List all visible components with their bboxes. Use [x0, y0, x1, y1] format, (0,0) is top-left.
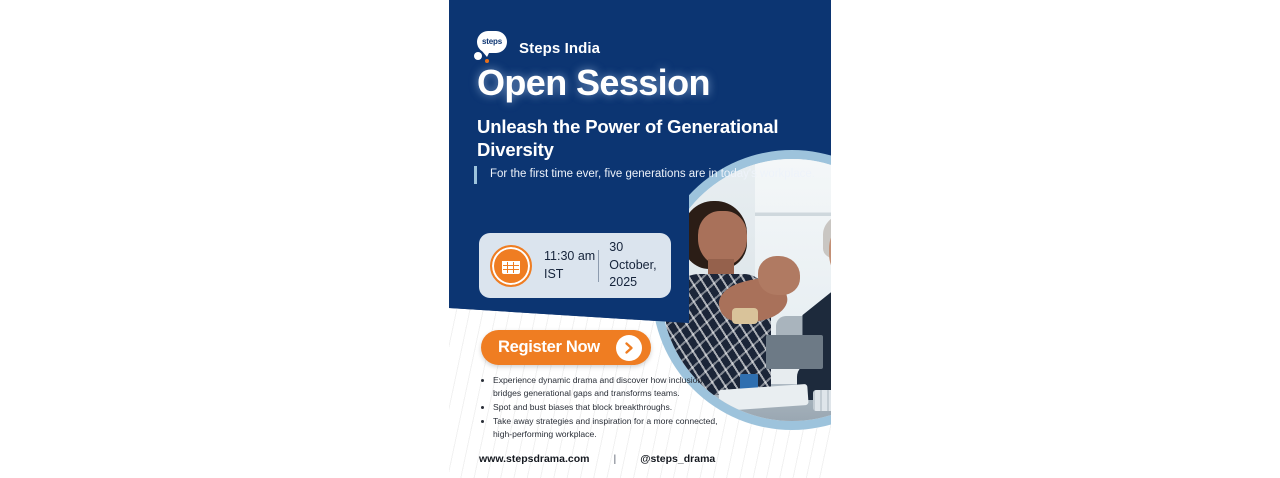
poster: steps Steps India Open Session Unleash t…: [449, 0, 831, 478]
list-item: Experience dynamic drama and discover ho…: [493, 374, 723, 400]
event-info-card: 11:30 am IST 30 October, 2025: [479, 233, 671, 298]
woman-watch: [732, 308, 758, 324]
event-date: 30 October, 2025: [609, 239, 671, 292]
logo-dot-white: [474, 52, 482, 60]
register-now-label: Register Now: [498, 338, 616, 357]
screenshot-canvas: steps Steps India Open Session Unleash t…: [0, 0, 1280, 478]
speech-bubble-icon: steps: [474, 31, 508, 65]
quote-text: For the first time ever, five generation…: [474, 166, 815, 184]
page-title: Open Session: [477, 64, 710, 102]
arrow-right-circle-icon: [616, 335, 642, 361]
event-time: 11:30 am IST: [544, 248, 596, 284]
laptop: [766, 335, 824, 369]
footer-separator: |: [613, 453, 616, 465]
register-now-button[interactable]: Register Now: [481, 330, 651, 365]
website-link[interactable]: www.stepsdrama.com: [479, 453, 589, 465]
footer: www.stepsdrama.com | @steps_drama: [479, 453, 715, 465]
brand-name: Steps India: [519, 40, 600, 57]
list-item: Take away strategies and inspiration for…: [493, 415, 723, 441]
list-item: Spot and bust biases that block breakthr…: [493, 401, 723, 414]
brand-logo[interactable]: steps Steps India: [474, 31, 600, 65]
card-divider: [598, 250, 599, 282]
benefits-list: Experience dynamic drama and discover ho…: [479, 374, 723, 442]
woman-hands: [758, 256, 800, 295]
logo-bubble-text: steps: [482, 38, 502, 46]
keyboard: [813, 390, 831, 411]
page-subtitle: Unleash the Power of Generational Divers…: [477, 115, 807, 162]
social-handle[interactable]: @steps_drama: [640, 453, 715, 465]
calendar-icon: [490, 245, 532, 287]
